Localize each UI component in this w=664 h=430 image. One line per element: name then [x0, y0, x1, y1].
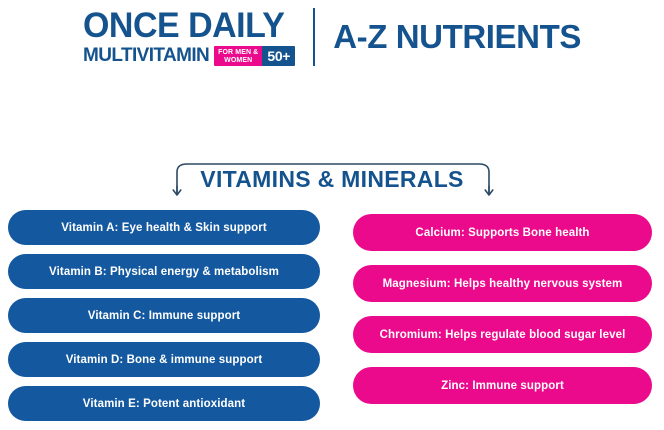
list-item[interactable]: Vitamin C: Immune support — [8, 298, 320, 333]
list-item[interactable]: Vitamin B: Physical energy & metabolism — [8, 254, 320, 289]
vitamins-column: Vitamin A: Eye health & Skin support Vit… — [8, 210, 320, 430]
minerals-column: Calcium: Supports Bone health Magnesium:… — [353, 214, 652, 418]
list-item[interactable]: Magnesium: Helps healthy nervous system — [353, 265, 652, 302]
list-item[interactable]: Vitamin E: Potent antioxidant — [8, 386, 320, 421]
section-heading-group: VITAMINS & MINERALS — [0, 0, 664, 52]
list-item[interactable]: Zinc: Immune support — [353, 367, 652, 404]
list-item[interactable]: Vitamin A: Eye health & Skin support — [8, 210, 320, 245]
list-item[interactable]: Vitamin D: Bone & immune support — [8, 342, 320, 377]
list-item[interactable]: Calcium: Supports Bone health — [353, 214, 652, 251]
list-item[interactable]: Chromium: Helps regulate blood sugar lev… — [353, 316, 652, 353]
badge-line2: WOMEN — [224, 57, 252, 65]
section-heading-label: VITAMINS & MINERALS — [0, 166, 664, 192]
nutrient-columns: Vitamin A: Eye health & Skin support Vit… — [0, 210, 664, 423]
